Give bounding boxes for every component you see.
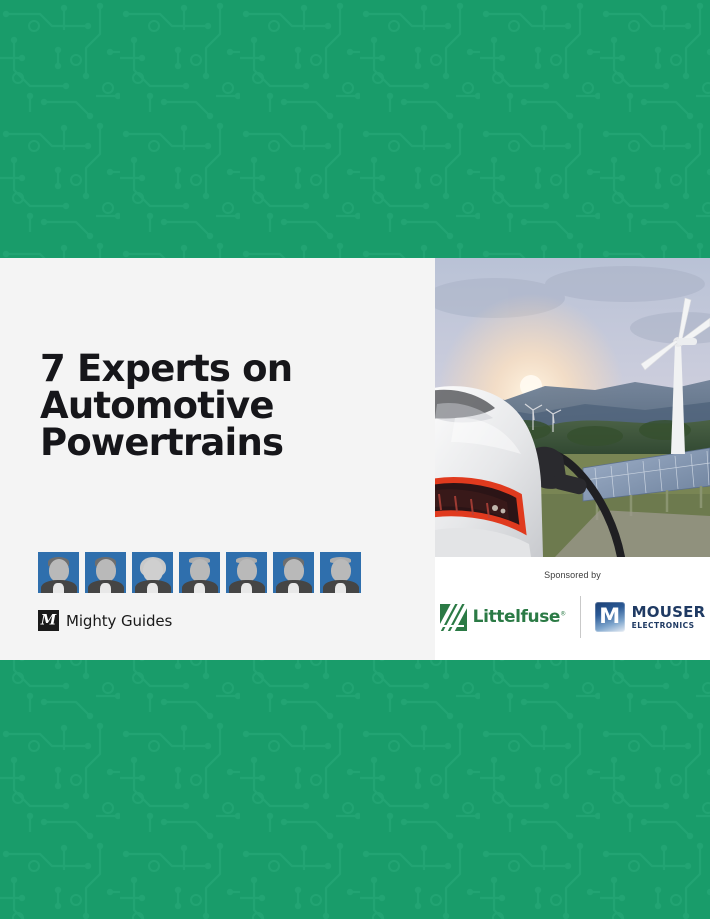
mighty-guides-mark-letter: M bbox=[41, 613, 57, 627]
avatar-shirt bbox=[241, 583, 252, 593]
avatar-head bbox=[331, 559, 351, 582]
sponsored-by-label: Sponsored by bbox=[544, 570, 601, 580]
publisher-logo: M Mighty Guides bbox=[38, 610, 172, 631]
avatar-shirt bbox=[100, 583, 111, 593]
avatar bbox=[179, 552, 220, 593]
mouser-subtitle: ELECTRONICS bbox=[632, 622, 706, 630]
cover-left-panel: 7 Experts on Automotive Powertrains bbox=[0, 258, 435, 660]
littelfuse-wordmark: Littelfuse® bbox=[473, 607, 566, 627]
avatar-shirt bbox=[53, 583, 64, 593]
avatar bbox=[273, 552, 314, 593]
littelfuse-logo[interactable]: Littelfuse® bbox=[440, 604, 566, 631]
avatar-shirt bbox=[147, 583, 158, 593]
avatar-head bbox=[49, 559, 69, 582]
cover-page: 7 Experts on Automotive Powertrains bbox=[0, 0, 710, 919]
mouser-logo[interactable]: M MOUSER ELECTRONICS bbox=[595, 602, 706, 632]
mighty-guides-mark-icon: M bbox=[38, 610, 59, 631]
cover-card: 7 Experts on Automotive Powertrains bbox=[0, 258, 710, 660]
sponsor-section: Sponsored by Littelfuse® bbox=[435, 557, 710, 660]
avatar-head bbox=[284, 559, 304, 582]
sponsor-divider bbox=[580, 596, 581, 638]
avatar bbox=[85, 552, 126, 593]
mouser-mark-letter: M bbox=[599, 606, 620, 627]
avatar bbox=[320, 552, 361, 593]
avatar bbox=[38, 552, 79, 593]
avatar-shirt bbox=[194, 583, 205, 593]
avatar-head bbox=[237, 559, 257, 582]
expert-headshots bbox=[38, 552, 361, 593]
avatar bbox=[226, 552, 267, 593]
avatar-head bbox=[190, 559, 210, 582]
page-title: 7 Experts on Automotive Powertrains bbox=[40, 350, 410, 461]
avatar-head bbox=[143, 559, 163, 582]
littelfuse-mark-icon bbox=[440, 604, 467, 631]
mouser-wordmark: MOUSER ELECTRONICS bbox=[632, 605, 706, 630]
littelfuse-trademark: ® bbox=[560, 610, 566, 617]
avatar-head bbox=[96, 559, 116, 582]
avatar bbox=[132, 552, 173, 593]
mouser-mark-icon: M bbox=[595, 602, 625, 632]
littelfuse-name: Littelfuse bbox=[473, 607, 560, 627]
hero-image bbox=[435, 258, 710, 557]
avatar-shirt bbox=[288, 583, 299, 593]
cover-right-panel: Sponsored by Littelfuse® bbox=[435, 258, 710, 660]
sponsor-logos: Littelfuse® M MOUSER ELECTRONICS bbox=[440, 596, 706, 638]
publisher-name: Mighty Guides bbox=[66, 612, 172, 630]
mouser-name: MOUSER bbox=[632, 605, 706, 620]
avatar-shirt bbox=[335, 583, 346, 593]
